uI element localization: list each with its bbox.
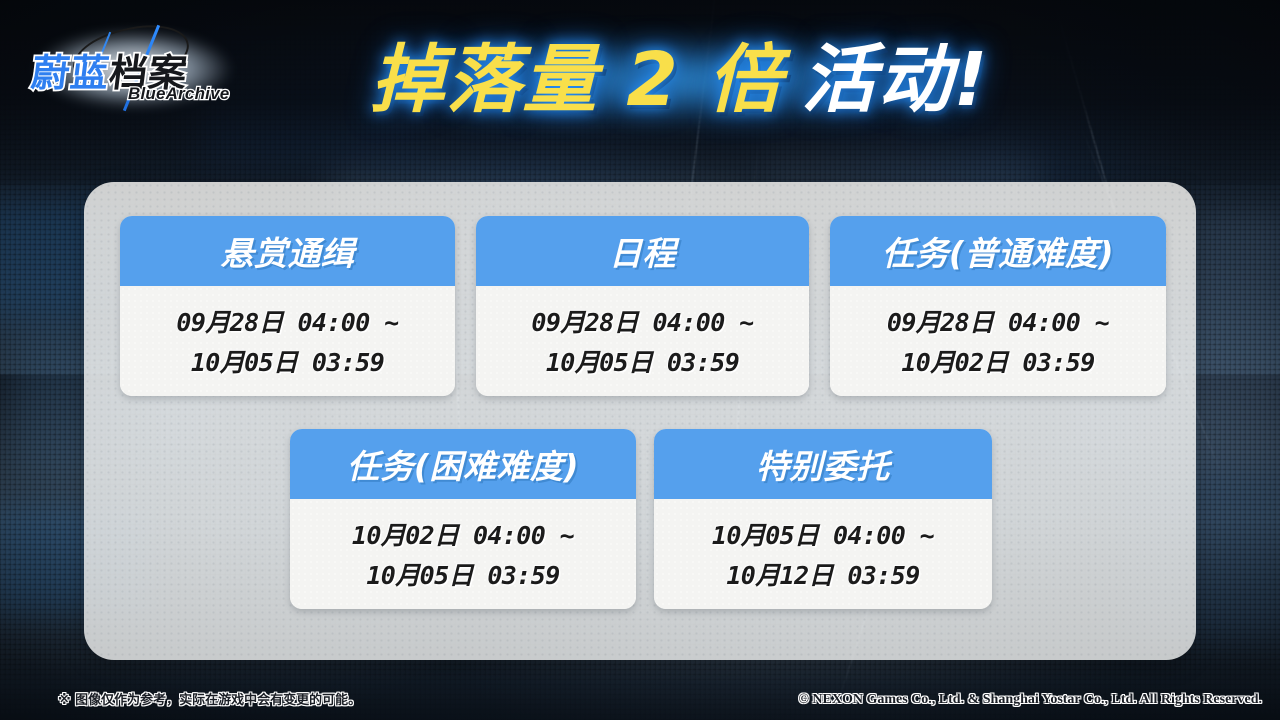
card-date-start: 09月28日 04:00 ~ — [176, 303, 398, 339]
card-header: 任务(困难难度) — [290, 429, 636, 499]
card-date-end: 10月12日 03:59 — [726, 556, 919, 592]
card-date-end: 10月05日 03:59 — [366, 556, 559, 592]
card-body: 10月05日 04:00 ~ 10月12日 03:59 — [654, 499, 992, 609]
schedule-row-bottom: 任务(困难难度) 10月02日 04:00 ~ 10月05日 03:59 特别委… — [290, 429, 992, 609]
card-body: 09月28日 04:00 ~ 10月05日 03:59 — [120, 286, 455, 396]
card-body: 09月28日 04:00 ~ 10月02日 03:59 — [830, 286, 1166, 396]
blue-archive-logo: 蔚蓝档案 BlueArchive — [24, 26, 242, 112]
card-date-start: 09月28日 04:00 ~ — [887, 303, 1109, 339]
card-header: 悬赏通缉 — [120, 216, 455, 286]
logo-title-en: BlueArchive — [128, 84, 229, 104]
card-title: 特别委托 — [756, 440, 890, 488]
schedule-card-mission-hard[interactable]: 任务(困难难度) 10月02日 04:00 ~ 10月05日 03:59 — [290, 429, 636, 609]
schedule-row-top: 悬赏通缉 09月28日 04:00 ~ 10月05日 03:59 日程 09月2… — [120, 216, 1166, 396]
event-banner: 蔚蓝档案 BlueArchive 掉落量 2 倍活动! 悬赏通缉 09月28日 … — [0, 0, 1280, 720]
event-title-rest: 活动! — [802, 37, 990, 123]
card-body: 10月02日 04:00 ~ 10月05日 03:59 — [290, 499, 636, 609]
card-title: 任务(困难难度) — [347, 440, 579, 488]
schedule-card-mission-normal[interactable]: 任务(普通难度) 09月28日 04:00 ~ 10月02日 03:59 — [830, 216, 1166, 396]
disclaimer-note: ※ 图像仅作为参考，实际在游戏中会有变更的可能。 — [58, 689, 361, 708]
card-date-start: 09月28日 04:00 ~ — [531, 303, 753, 339]
card-header: 特别委托 — [654, 429, 992, 499]
card-date-end: 10月05日 03:59 — [191, 343, 384, 379]
schedule-panel: 悬赏通缉 09月28日 04:00 ~ 10月05日 03:59 日程 09月2… — [84, 182, 1196, 660]
event-title: 掉落量 2 倍活动! — [371, 43, 990, 117]
card-title: 悬赏通缉 — [221, 227, 355, 275]
event-title-highlight: 掉落量 2 倍 — [371, 37, 784, 123]
card-date-end: 10月05日 03:59 — [546, 343, 739, 379]
card-date-start: 10月05日 04:00 ~ — [712, 516, 934, 552]
card-date-start: 10月02日 04:00 ~ — [352, 516, 574, 552]
event-title-area: 掉落量 2 倍活动! — [300, 28, 1060, 132]
copyright-notice: © NEXON Games Co., Ltd. & Shanghai Yosta… — [798, 692, 1262, 708]
schedule-card-bounty-hunt[interactable]: 悬赏通缉 09月28日 04:00 ~ 10月05日 03:59 — [120, 216, 455, 396]
card-title: 任务(普通难度) — [882, 227, 1114, 275]
card-header: 日程 — [476, 216, 809, 286]
card-body: 09月28日 04:00 ~ 10月05日 03:59 — [476, 286, 809, 396]
schedule-card-schedule[interactable]: 日程 09月28日 04:00 ~ 10月05日 03:59 — [476, 216, 809, 396]
card-date-end: 10月02日 03:59 — [901, 343, 1094, 379]
card-title: 日程 — [609, 227, 676, 275]
logo-title-cn-part1: 蔚蓝 — [29, 51, 112, 95]
schedule-card-special-commission[interactable]: 特别委托 10月05日 04:00 ~ 10月12日 03:59 — [654, 429, 992, 609]
card-header: 任务(普通难度) — [830, 216, 1166, 286]
